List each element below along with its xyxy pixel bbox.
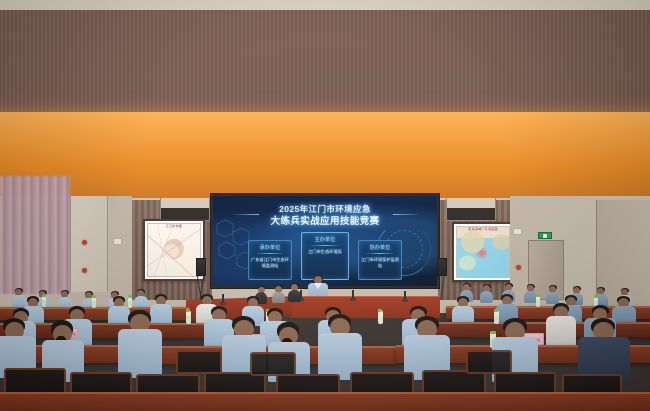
alarm-button-left[interactable]	[82, 240, 87, 245]
water-bottle	[378, 311, 383, 324]
pa-speaker-right	[437, 258, 447, 276]
left-wall-door	[70, 196, 108, 292]
window-blind-left	[160, 197, 210, 221]
exit-running-man-icon	[543, 234, 547, 238]
title-deco-left	[231, 214, 259, 215]
screen-info-panels: 承办单位 广东省江门市生态环境监测站 主办单位 江门市生态环境局 协办单位 江门…	[213, 232, 437, 280]
light-switch-right[interactable]	[513, 228, 522, 235]
foreground-desk	[0, 392, 650, 411]
microphone	[352, 290, 354, 299]
screen-panel-organizer: 主办单位 江门市生态环境局	[301, 232, 349, 280]
conference-hall-photo: 江门市地图 南海海域广东海区图 2025年江门市环境应急 大练兵实战应用技能竞赛	[0, 0, 650, 411]
led-screen: 2025年江门市环境应急 大练兵实战应用技能竞赛 承办单位 广东省江门市生态环境…	[213, 196, 437, 286]
exit-sign	[538, 232, 552, 239]
window-blind-right	[446, 197, 496, 221]
title-deco-right	[393, 214, 421, 215]
alarm-button-right[interactable]	[516, 265, 521, 270]
map-left-title: 江门市地图	[145, 224, 203, 228]
person-torso	[288, 290, 301, 302]
person-torso	[118, 329, 162, 378]
person-torso	[272, 292, 285, 303]
microphone	[222, 294, 224, 303]
framed-map-right: 南海海域广东海区图	[452, 222, 514, 282]
water-bottle	[92, 297, 96, 308]
alarm-button-left-lower[interactable]	[82, 268, 87, 273]
chair-back	[176, 350, 222, 374]
water-bottle	[186, 311, 191, 324]
screen-panel-co-organizer: 协办单位 江门市环境保护监测站	[358, 240, 402, 280]
map-right-title: 南海海域广东海区图	[454, 227, 512, 231]
window-curtain-left	[0, 176, 70, 294]
water-bottle	[536, 296, 540, 307]
chair-back	[466, 350, 512, 374]
pa-speaker-left	[196, 258, 206, 276]
light-switch-left[interactable]	[113, 238, 122, 245]
screen-title-line-2: 大练兵实战应用技能竞赛	[213, 215, 437, 228]
person-torso	[480, 291, 493, 303]
microphone	[404, 291, 406, 300]
chair-back	[250, 352, 296, 376]
screen-title-block: 2025年江门市环境应急 大练兵实战应用技能竞赛	[213, 204, 437, 228]
screen-panel-host-support: 承办单位 广东省江门市生态环境监测站	[248, 240, 292, 280]
person-torso	[546, 316, 576, 347]
